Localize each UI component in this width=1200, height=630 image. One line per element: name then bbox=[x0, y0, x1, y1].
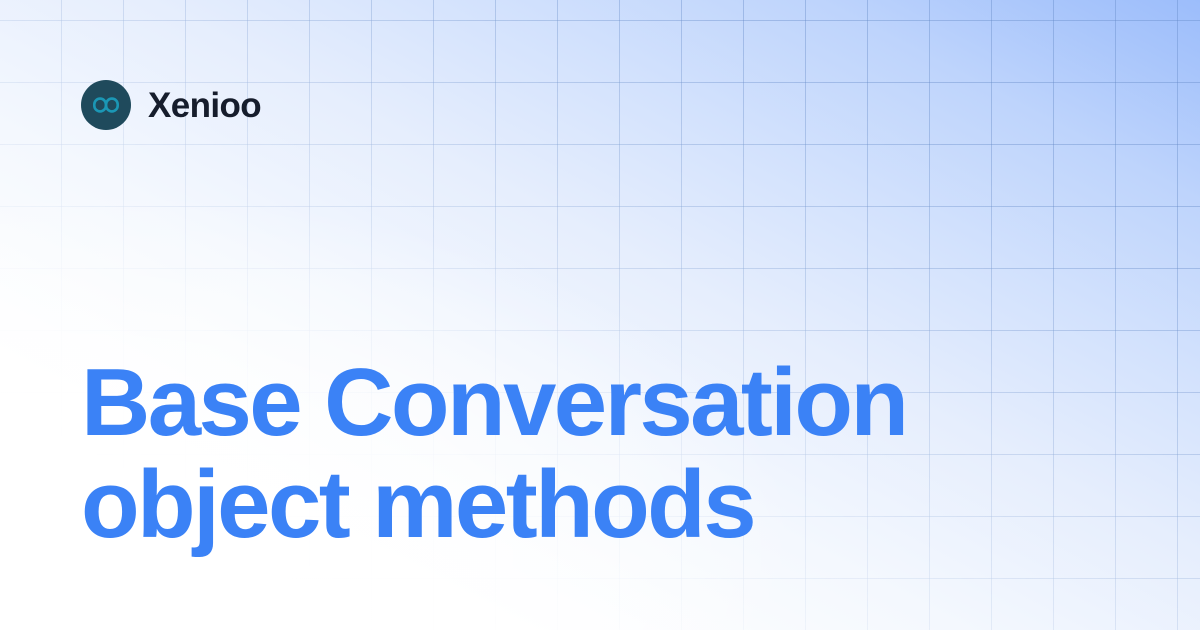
brand-lockup: Xenioo bbox=[81, 80, 261, 130]
infinity-loop-icon bbox=[81, 80, 131, 130]
brand-name: Xenioo bbox=[148, 88, 261, 123]
og-card: Xenioo Base Conversation object methods bbox=[0, 0, 1200, 630]
page-title-line-2: object methods bbox=[81, 454, 1081, 556]
card-content: Xenioo Base Conversation object methods bbox=[0, 0, 1200, 630]
page-title-line-1: Base Conversation bbox=[81, 352, 1081, 454]
page-title: Base Conversation object methods bbox=[81, 352, 1081, 556]
